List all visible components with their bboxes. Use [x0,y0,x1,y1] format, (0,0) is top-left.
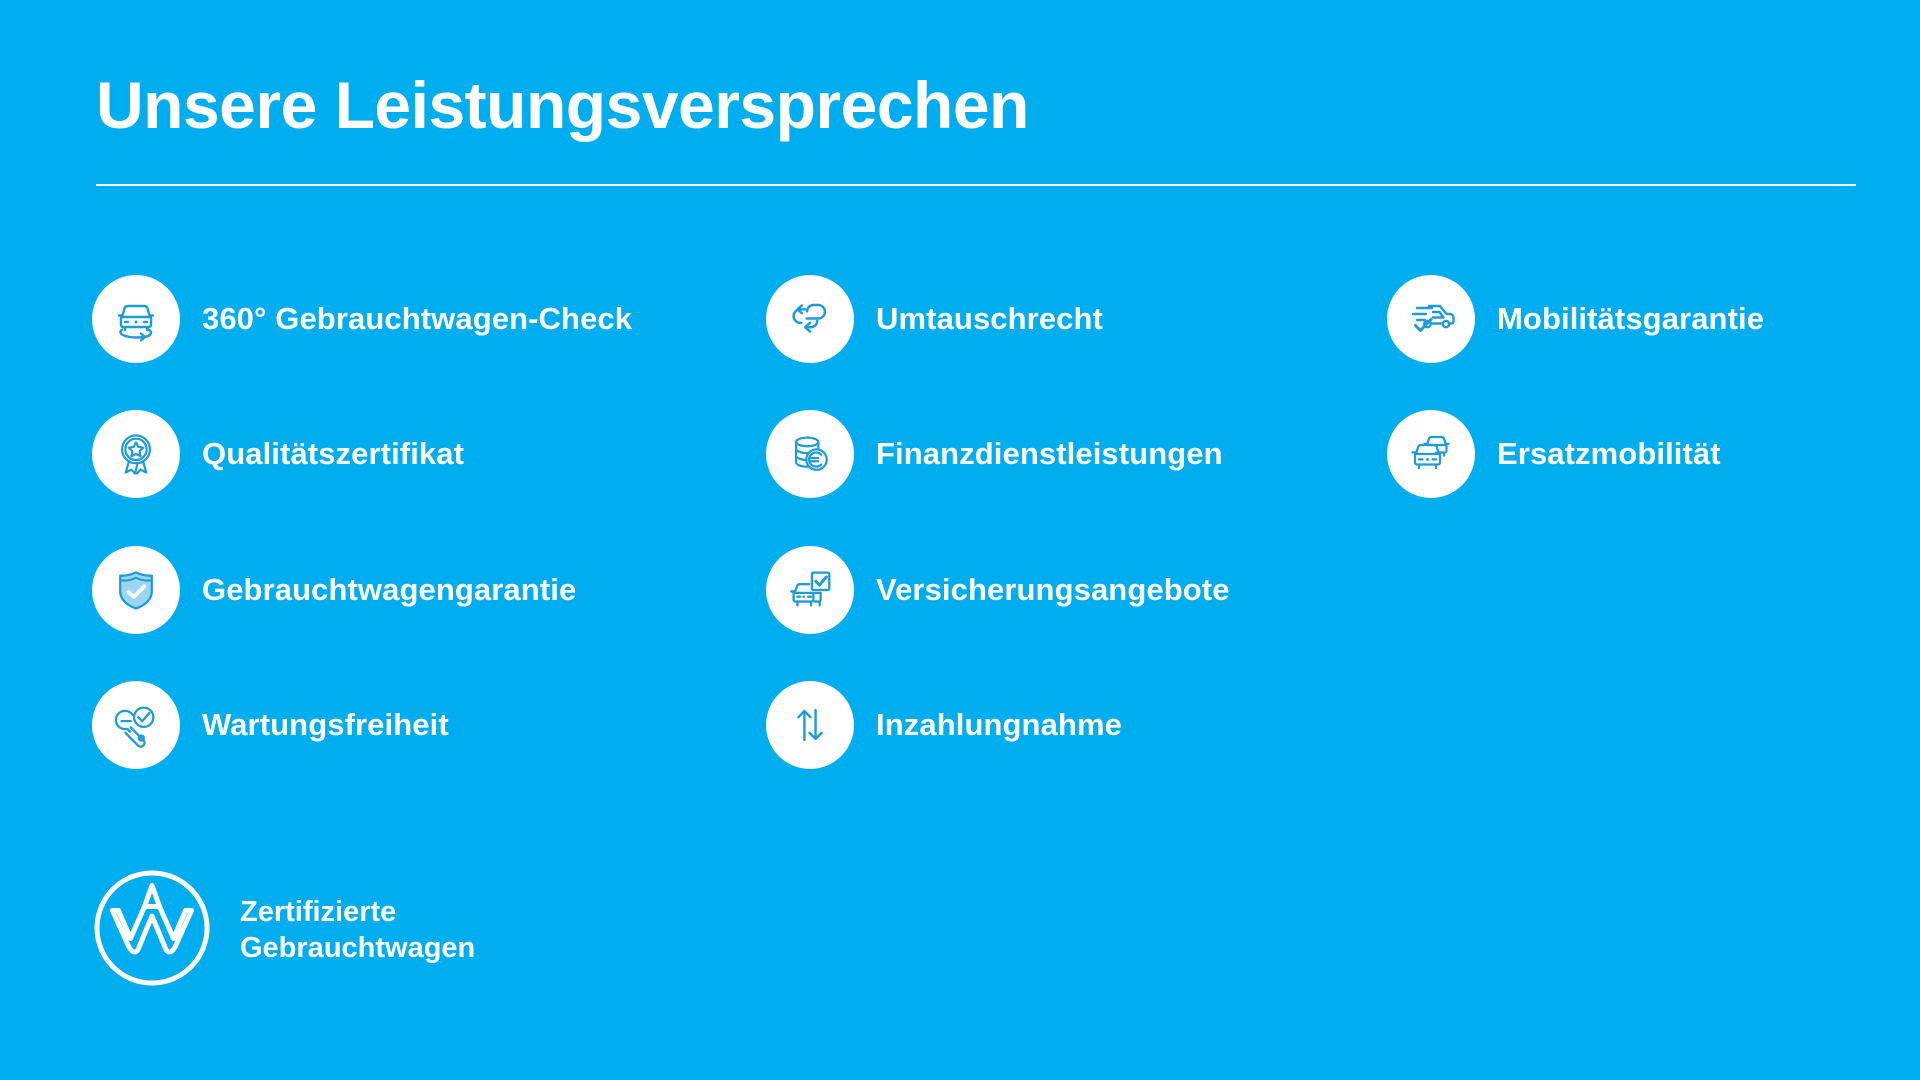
benefit-item[interactable]: Inzahlungnahme [766,681,1122,769]
benefit-item[interactable]: Mobilitätsgarantie [1387,275,1764,363]
benefit-item[interactable]: 360° Gebrauchtwagen-Check [92,275,632,363]
exchange-arrows-icon [766,275,854,363]
benefit-item[interactable]: Wartungsfreiheit [92,681,449,769]
benefit-item[interactable]: Gebrauchtwagengarantie [92,546,576,634]
benefit-label: Finanzdienstleistungen [876,437,1223,471]
brand-lockup: Zertifizierte Gebrauchtwagen [90,866,475,995]
benefit-label: Ersatzmobilität [1497,437,1721,471]
slide-canvas: Unsere Leistungsversprechen 360° Gebrauc… [0,0,1920,1080]
brand-text: Zertifizierte Gebrauchtwagen [240,895,475,967]
wrench-check-icon [92,681,180,769]
brand-text-line2: Gebrauchtwagen [240,931,475,967]
benefit-label: Wartungsfreiheit [202,708,449,742]
benefit-item[interactable]: Qualitätszertifikat [92,410,464,498]
volkswagen-logo [90,866,214,995]
car-360-check-icon [92,275,180,363]
car-checkbox-icon [766,546,854,634]
benefit-item[interactable]: Versicherungsangebote [766,546,1230,634]
two-cars-icon [1387,410,1475,498]
benefit-item[interactable]: Ersatzmobilität [1387,410,1721,498]
benefit-item[interactable]: Finanzdienstleistungen [766,410,1223,498]
shield-check-icon [92,546,180,634]
benefit-item[interactable]: Umtauschrecht [766,275,1103,363]
brand-text-line1: Zertifizierte [240,895,475,931]
arrows-up-down-icon [766,681,854,769]
coins-euro-icon [766,410,854,498]
benefit-label: Gebrauchtwagengarantie [202,573,576,607]
benefit-label: Umtauschrecht [876,302,1103,336]
benefit-label: 360° Gebrauchtwagen-Check [202,302,632,336]
benefit-label: Inzahlungnahme [876,708,1122,742]
benefit-label: Versicherungsangebote [876,573,1230,607]
car-speed-check-icon [1387,275,1475,363]
award-ribbon-star-icon [92,410,180,498]
benefit-label: Mobilitätsgarantie [1497,302,1764,336]
benefit-label: Qualitätszertifikat [202,437,464,471]
